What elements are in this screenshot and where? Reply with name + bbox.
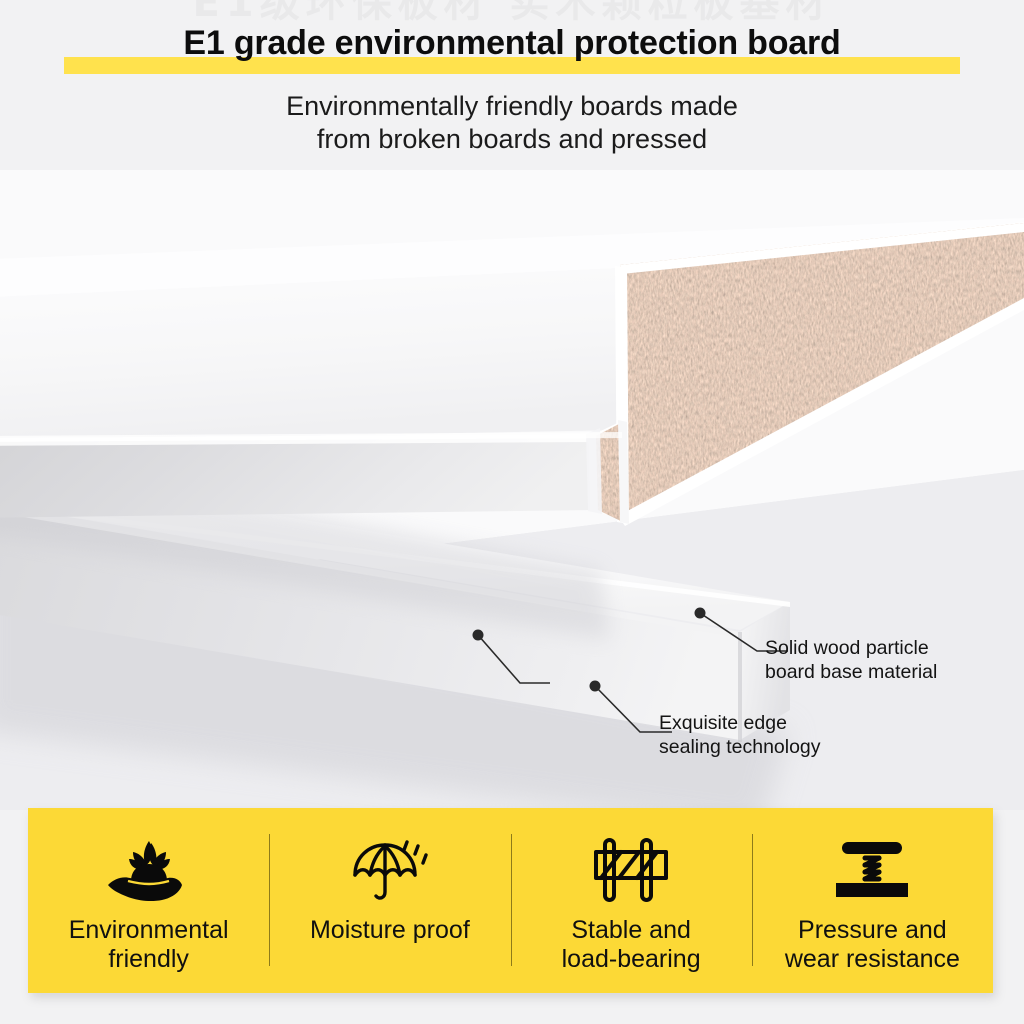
annotation-edge-sealing: Exquisite edge sealing technology bbox=[659, 711, 821, 759]
title-wrap: E1 grade environmental protection board bbox=[0, 0, 1024, 80]
page-title: E1 grade environmental protection board bbox=[0, 24, 1024, 63]
feature-label: Environmental friendly bbox=[69, 916, 229, 974]
feature-label: Stable and load-bearing bbox=[562, 916, 701, 974]
feature-label: Pressure and wear resistance bbox=[785, 916, 960, 974]
board-illustration bbox=[0, 170, 1024, 810]
annotation-solid-wood-particle-board: Solid wood particle board base material bbox=[765, 636, 937, 684]
feature-pressure-wear-resistance: Pressure and wear resistance bbox=[752, 808, 993, 993]
feature-stable-load-bearing: Stable and load-bearing bbox=[511, 808, 752, 993]
page-subtitle: Environmentally friendly boards made fro… bbox=[0, 90, 1024, 156]
feature-moisture-proof: Moisture proof bbox=[269, 808, 510, 993]
header: E1 grade environmental protection board … bbox=[0, 0, 1024, 80]
umbrella-rain-icon bbox=[347, 834, 433, 906]
press-compression-icon bbox=[828, 834, 916, 906]
feature-label: Moisture proof bbox=[310, 916, 470, 945]
feature-environmental-friendly: Environmental friendly bbox=[28, 808, 269, 993]
product-photo: Solid wood particle board base material … bbox=[0, 170, 1024, 810]
plant-in-hand-icon bbox=[106, 834, 192, 906]
features-bar: Environmental friendly bbox=[28, 808, 993, 993]
barrier-icon bbox=[591, 834, 671, 906]
